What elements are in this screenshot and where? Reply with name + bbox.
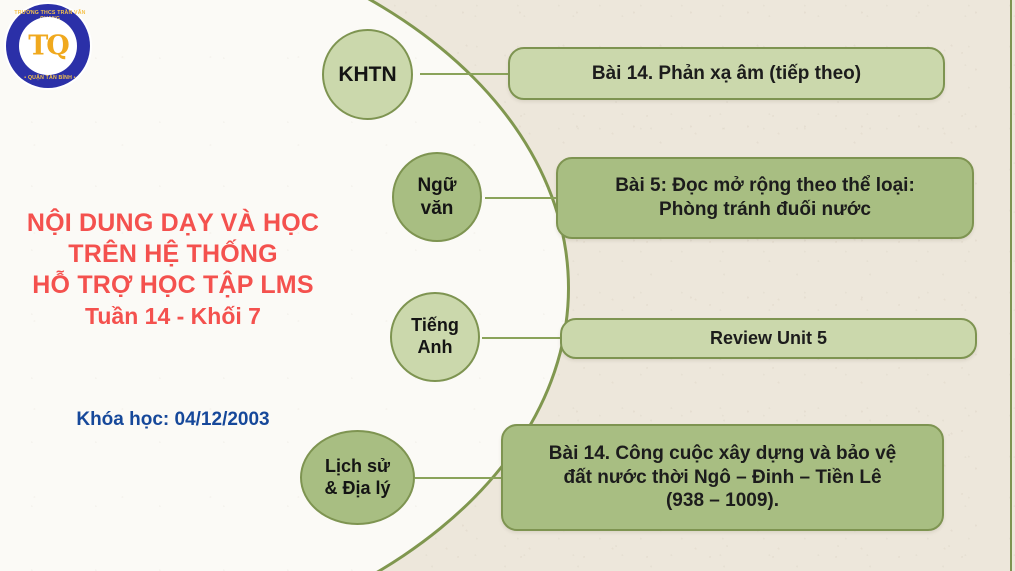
- subject-node-khtn-label: KHTN: [338, 62, 396, 88]
- slide-canvas: TRƯỜNG THCS TRẦN VĂN QUANG • QUẬN TÂN BÌ…: [0, 0, 1015, 571]
- subject-node-lichsu-label-1: Lịch sử: [325, 456, 390, 478]
- title-line-1: NỘI DUNG DẠY VÀ HỌC: [8, 208, 338, 239]
- content-card-tienganh-line-1: Review Unit 5: [710, 327, 827, 350]
- content-card-lichsu-line-3: (938 – 1009).: [666, 489, 779, 513]
- slide-frame-line: [1010, 0, 1012, 571]
- subject-node-khtn[interactable]: KHTN: [322, 29, 413, 120]
- title-line-3: HỖ TRỢ HỌC TẬP LMS: [8, 270, 338, 301]
- connector-line-khtn: [420, 73, 515, 75]
- content-card-nguvan[interactable]: Bài 5: Đọc mở rộng theo thể loại: Phòng …: [556, 157, 974, 239]
- content-card-khtn[interactable]: Bài 14. Phản xạ âm (tiếp theo): [508, 47, 945, 100]
- connector-line-nguvan: [485, 197, 558, 199]
- school-logo: TRƯỜNG THCS TRẦN VĂN QUANG • QUẬN TÂN BÌ…: [4, 2, 92, 90]
- logo-monogram: TQ: [28, 31, 68, 62]
- content-card-lichsu-dialy[interactable]: Bài 14. Công cuộc xây dựng và bảo vệ đất…: [501, 424, 944, 531]
- title-subtitle: Tuần 14 - Khối 7: [8, 301, 338, 332]
- subject-node-tienganh-label-1: Tiếng: [411, 315, 459, 337]
- subject-node-nguvan-label-1: Ngữ: [417, 174, 456, 197]
- connector-line-lichsu: [415, 477, 503, 479]
- title-line-2: TRÊN HỆ THỐNG: [8, 239, 338, 270]
- logo-inner-disc: TQ: [19, 17, 77, 75]
- connector-line-tienganh: [482, 337, 562, 339]
- page-title: NỘI DUNG DẠY VÀ HỌC TRÊN HỆ THỐNG HỖ TRỢ…: [8, 208, 338, 332]
- logo-ring: TRƯỜNG THCS TRẦN VĂN QUANG • QUẬN TÂN BÌ…: [6, 4, 90, 88]
- logo-arc-bottom-text: • QUẬN TÂN BÌNH •: [6, 75, 94, 81]
- subject-node-lichsu-label-2: & Địa lý: [324, 478, 390, 500]
- subject-node-tienganh[interactable]: Tiếng Anh: [390, 292, 480, 382]
- subject-node-nguvan-label-2: văn: [421, 197, 454, 220]
- content-card-tienganh[interactable]: Review Unit 5: [560, 318, 977, 359]
- subject-node-tienganh-label-2: Anh: [418, 337, 453, 359]
- subject-node-nguvan[interactable]: Ngữ văn: [392, 152, 482, 242]
- content-card-lichsu-line-2: đất nước thời Ngô – Đinh – Tiền Lê: [563, 466, 881, 490]
- content-card-nguvan-line-1: Bài 5: Đọc mở rộng theo thể loại:: [615, 174, 915, 198]
- subject-node-lichsu-dialy[interactable]: Lịch sử & Địa lý: [300, 430, 415, 525]
- content-card-nguvan-line-2: Phòng tránh đuối nước: [659, 198, 871, 222]
- course-date-label: Khóa học: 04/12/2003: [8, 409, 338, 431]
- content-card-khtn-line-1: Bài 14. Phản xạ âm (tiếp theo): [592, 62, 861, 86]
- content-card-lichsu-line-1: Bài 14. Công cuộc xây dựng và bảo vệ: [549, 442, 896, 466]
